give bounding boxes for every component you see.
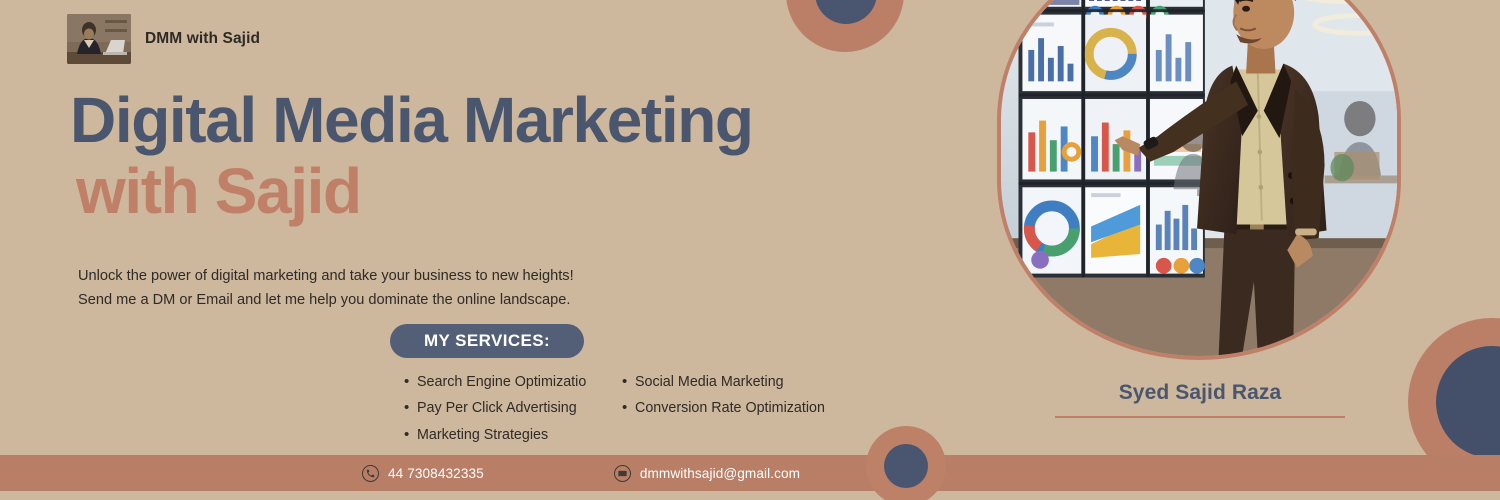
tagline-line-2: Send me a DM or Email and let me help yo… (78, 289, 718, 313)
list-item: Pay Per Click Advertising (404, 399, 604, 418)
services-column-right: Social Media Marketing Conversion Rate O… (622, 373, 852, 445)
brand-row: DMM with Sajid (67, 14, 260, 64)
presenter-name-underline (1055, 416, 1345, 418)
phone-number: 44 7308432335 (388, 466, 484, 481)
services-section: MY SERVICES: Search Engine Optimizatio P… (390, 324, 910, 445)
envelope-icon (614, 465, 631, 482)
man-presenting-analytics-dashboards-icon (1001, 0, 1397, 356)
email-address: dmmwithsajid@gmail.com (640, 466, 800, 481)
headline-line-1: Digital Media Marketing (70, 88, 950, 153)
headline-line-2: with Sajid (70, 159, 950, 224)
contact-email[interactable]: dmmwithsajid@gmail.com (614, 465, 800, 482)
presenter-name: Syed Sajid Raza (1055, 381, 1345, 405)
services-lists: Search Engine Optimizatio Pay Per Click … (390, 373, 910, 445)
list-item: Social Media Marketing (622, 373, 852, 392)
brand-logo-thumbnail (67, 14, 131, 64)
list-item: Search Engine Optimizatio (404, 373, 604, 392)
footer-contacts: 44 7308432335 dmmwithsajid@gmail.com (0, 455, 800, 491)
presenter-photo (997, 0, 1401, 360)
profile-banner: DMM with Sajid Digital Media Marketing w… (0, 0, 1500, 500)
person-at-laptop-photo-icon (67, 14, 131, 64)
headline: Digital Media Marketing with Sajid (70, 88, 950, 225)
services-column-left: Search Engine Optimizatio Pay Per Click … (404, 373, 604, 445)
decorative-circle-footer-inner (884, 444, 928, 488)
presenter-name-block: Syed Sajid Raza (1055, 381, 1345, 418)
tagline-line-1: Unlock the power of digital marketing an… (78, 265, 718, 289)
phone-icon (362, 465, 379, 482)
contact-phone[interactable]: 44 7308432335 (362, 465, 484, 482)
tagline: Unlock the power of digital marketing an… (78, 265, 718, 312)
services-badge: MY SERVICES: (390, 324, 584, 358)
brand-name: DMM with Sajid (145, 30, 260, 48)
list-item: Marketing Strategies (404, 426, 604, 445)
list-item: Conversion Rate Optimization (622, 399, 852, 418)
